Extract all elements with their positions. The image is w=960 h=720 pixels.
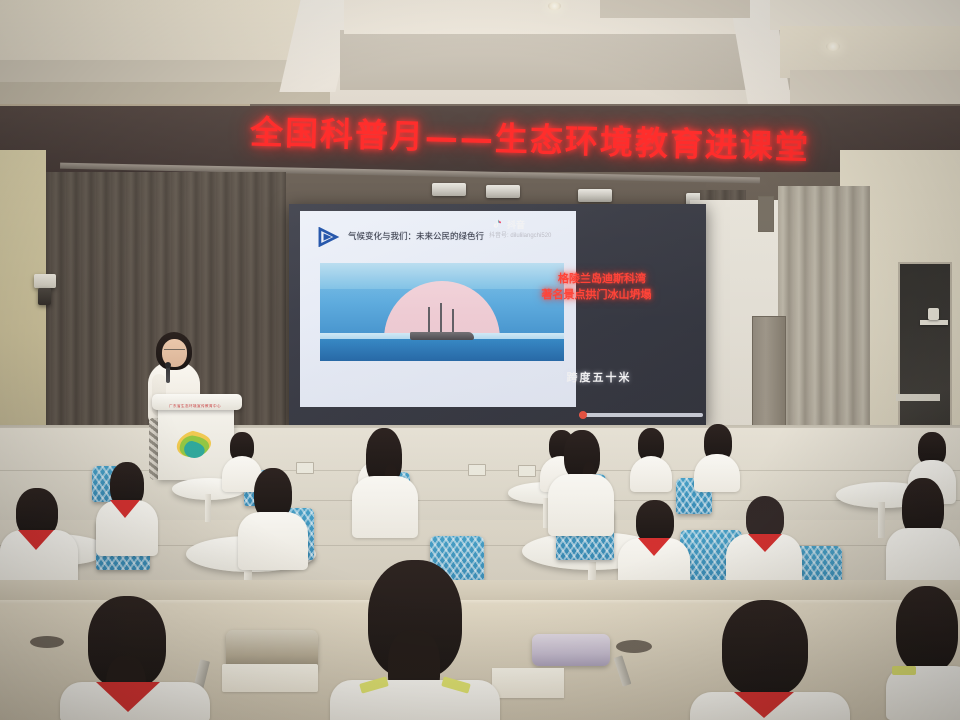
microphone-head xyxy=(165,362,171,368)
stage-spotlight xyxy=(432,183,466,196)
student-uniform xyxy=(330,680,500,720)
video-progress-handle[interactable] xyxy=(579,411,587,419)
student-front-row xyxy=(690,600,850,720)
student-hair xyxy=(896,586,958,672)
stage-spotlight xyxy=(486,185,520,198)
student-back-row xyxy=(694,424,740,488)
student-mid-row xyxy=(96,462,158,552)
ceiling xyxy=(0,0,960,118)
microphone xyxy=(166,366,170,383)
shelf-item xyxy=(928,308,939,320)
student-front-row xyxy=(886,586,960,720)
stage-spotlight xyxy=(578,189,612,202)
play-triangle-logo xyxy=(318,227,340,247)
worksheet xyxy=(492,668,564,698)
douyin-account-id: 抖音号: dilulilangchi520 xyxy=(489,230,551,239)
student-uniform xyxy=(238,512,308,570)
podium-banner-text: 广东省生态环境宣传教育中心 xyxy=(160,404,230,409)
slide-caption-line1: 格陵兰岛迪斯科湾 xyxy=(507,270,697,286)
student-mid-row xyxy=(618,500,690,592)
student-mid-row xyxy=(238,468,308,564)
student-front-row xyxy=(330,560,500,720)
slide-title: 气候变化与我们：未来公民的绿色行 xyxy=(348,230,588,242)
notebook-page xyxy=(222,664,318,692)
wall-speaker xyxy=(38,288,51,305)
slide-caption-line2: 著名景点拱门冰山坍塌 xyxy=(494,286,699,302)
ceiling-downlight xyxy=(548,2,561,10)
wall-speaker xyxy=(34,274,56,288)
student-mid-row xyxy=(548,430,614,548)
student-hair xyxy=(722,600,808,696)
back-door[interactable] xyxy=(758,196,774,232)
student-uniform xyxy=(694,454,740,492)
ceiling-downlight xyxy=(826,42,840,51)
student-uniform xyxy=(630,456,672,492)
student-front-row xyxy=(60,596,210,720)
green-leaf-logo xyxy=(172,428,214,462)
student-left-row xyxy=(0,488,78,588)
floor-outlet xyxy=(518,465,536,477)
projection-screen: 气候变化与我们：未来公民的绿色行 抖音 抖音号: dilulilangchi52… xyxy=(289,204,706,428)
student-mid-row xyxy=(726,496,802,592)
led-banner: 全国科普月——生态环境教育进课堂 xyxy=(0,106,960,172)
floor-outlet xyxy=(468,464,486,476)
slide-caption-line3: 跨度五十米 xyxy=(514,369,684,385)
video-progress-bar[interactable] xyxy=(579,413,703,417)
student-back-row xyxy=(630,428,672,488)
student-mid-row xyxy=(352,428,418,548)
banner-text: 全国科普月——生态环境教育进课堂 xyxy=(249,106,870,171)
desk-grommet xyxy=(30,636,64,648)
student-uniform xyxy=(548,474,614,536)
lecture-hall-photo: 全国科普月——生态环境教育进课堂 气候变化与我们：未来公民的绿色行 xyxy=(0,0,960,720)
uniform-collar xyxy=(892,666,916,675)
sailing-ship xyxy=(410,332,474,340)
wall-shelf xyxy=(920,320,948,325)
lavender-pencil-case[interactable] xyxy=(532,634,610,666)
glass-door-handle-strip xyxy=(896,394,940,401)
student-uniform xyxy=(352,476,418,538)
